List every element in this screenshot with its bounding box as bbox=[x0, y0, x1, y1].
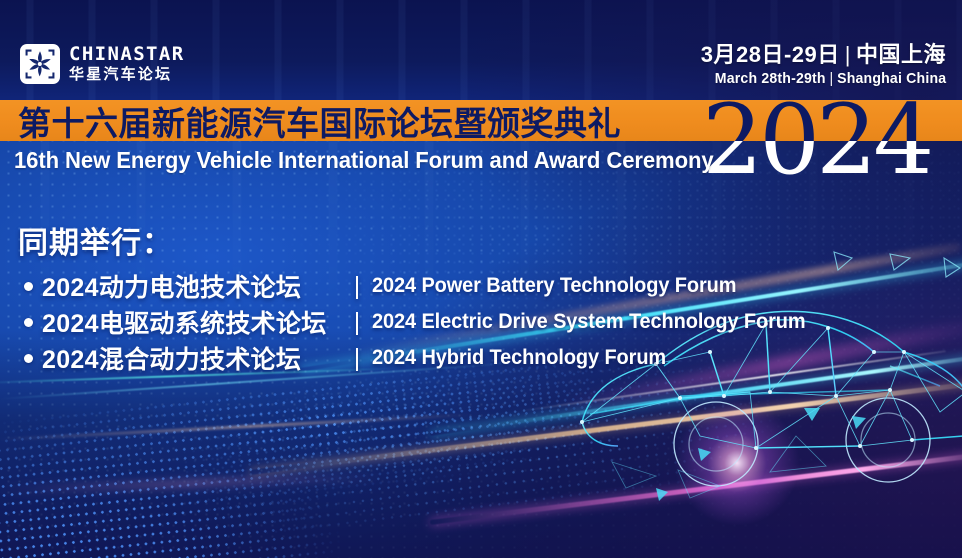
page-title-en: 16th New Energy Vehicle International Fo… bbox=[14, 141, 714, 179]
forum-name-cn: 2024电驱动系统技术论坛 bbox=[42, 304, 342, 340]
forum-name-cn: 2024动力电池技术论坛 bbox=[42, 268, 342, 304]
year-2024: 2024 2024 bbox=[702, 92, 962, 188]
location-en: Shanghai China bbox=[837, 70, 946, 87]
forum-separator: | bbox=[342, 308, 372, 337]
date-line-en: March 28th-29th|Shanghai China bbox=[714, 70, 946, 88]
list-item: 2024动力电池技术论坛 | 2024 Power Battery Techno… bbox=[18, 270, 828, 302]
star-flower-logo-icon bbox=[20, 44, 60, 84]
conference-banner: CHINASTAR 华星汽车论坛 3月28日-29日|中国上海 March 28… bbox=[0, 0, 962, 558]
list-item: 2024混合动力技术论坛 | 2024 Hybrid Technology Fo… bbox=[18, 342, 828, 374]
page-title-cn: 第十六届新能源汽车国际论坛暨颁奖典礼 bbox=[18, 100, 621, 141]
date-cn: 3月28日-29日 bbox=[701, 42, 840, 67]
concurrent-forums-section: 同期举行： 2024动力电池技术论坛 | 2024 Power Battery … bbox=[18, 218, 828, 378]
list-item: 2024电驱动系统技术论坛 | 2024 Electric Drive Syst… bbox=[18, 306, 828, 338]
forum-name-cn: 2024混合动力技术论坛 bbox=[42, 340, 342, 376]
forums-heading: 同期举行： bbox=[18, 218, 828, 262]
date-en: March 28th-29th bbox=[714, 70, 825, 87]
date-location-block: 3月28日-29日|中国上海 March 28th-29th|Shanghai … bbox=[700, 42, 946, 88]
forum-name-en: 2024 Electric Drive System Technology Fo… bbox=[372, 310, 806, 334]
bullet-icon bbox=[24, 354, 33, 363]
date-separator-cn: | bbox=[840, 42, 856, 67]
forum-separator: | bbox=[342, 344, 372, 373]
date-line-cn: 3月28日-29日|中国上海 bbox=[700, 42, 946, 67]
logo[interactable]: CHINASTAR 华星汽车论坛 bbox=[20, 44, 185, 84]
logo-name-cn: 华星汽车论坛 bbox=[69, 66, 185, 83]
logo-text: CHINASTAR 华星汽车论坛 bbox=[69, 45, 185, 83]
location-cn: 中国上海 bbox=[856, 42, 946, 67]
bullet-icon bbox=[24, 318, 33, 327]
forum-separator: | bbox=[342, 272, 372, 301]
forum-name-en: 2024 Hybrid Technology Forum bbox=[372, 346, 666, 370]
date-separator-en: | bbox=[825, 70, 836, 87]
logo-name-en: CHINASTAR bbox=[69, 45, 185, 65]
forum-name-en: 2024 Power Battery Technology Forum bbox=[372, 274, 736, 298]
bullet-icon bbox=[24, 282, 33, 291]
